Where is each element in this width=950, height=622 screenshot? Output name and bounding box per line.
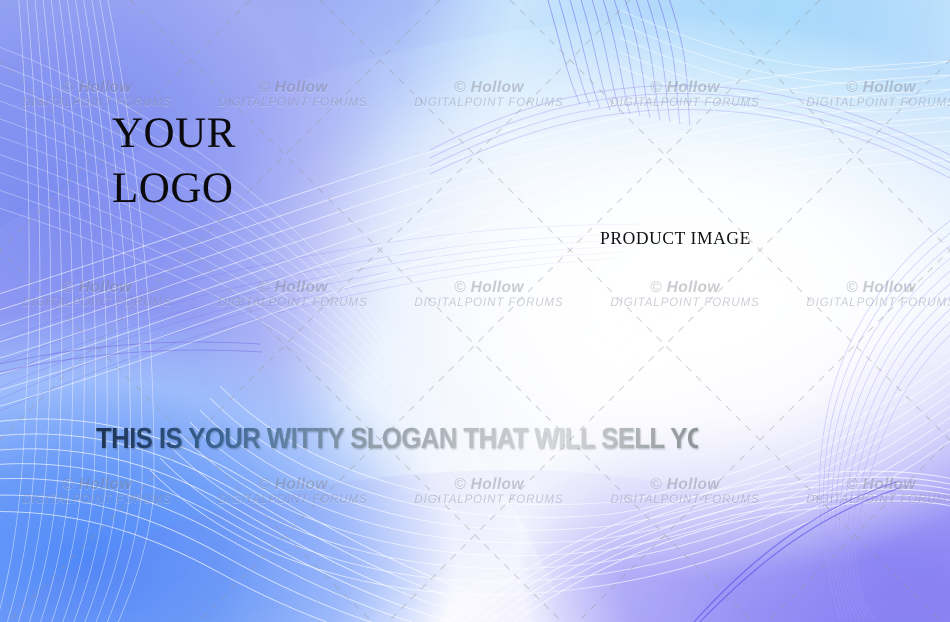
logo-placeholder[interactable]: YOUR LOGO <box>112 106 236 216</box>
slogan-text[interactable]: THIS IS YOUR WITTY SLOGAN THAT WILL SELL… <box>96 424 698 454</box>
product-image-placeholder[interactable]: PRODUCT IMAGE <box>600 228 751 249</box>
banner-canvas: © Hollow DIGITALPOINT FORUMS © Hollow DI… <box>0 0 950 622</box>
logo-line-2: LOGO <box>112 161 236 216</box>
anticopy-dashed-grid <box>0 0 950 622</box>
logo-line-1: YOUR <box>112 106 236 161</box>
